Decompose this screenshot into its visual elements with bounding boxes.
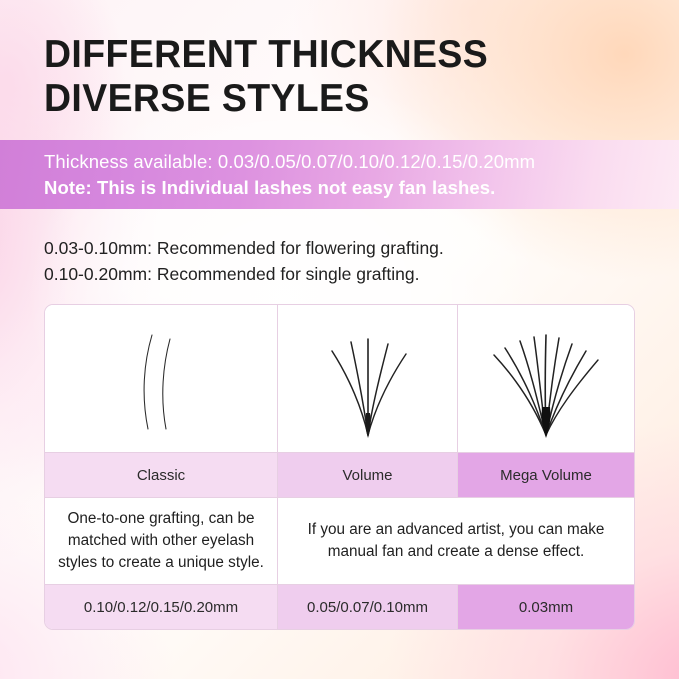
table-row-illustrations <box>45 305 634 452</box>
description-cell-classic: One-to-one grafting, can be matched with… <box>45 498 277 584</box>
sizes-cell-classic: 0.10/0.12/0.15/0.20mm <box>45 585 277 629</box>
header-cell-volume: Volume <box>277 453 457 497</box>
thickness-banner: Thickness available: 0.03/0.05/0.07/0.10… <box>0 140 679 209</box>
mega-volume-fan-icon <box>480 317 612 442</box>
promo-graphic: DIFFERENT THICKNESS DIVERSE STYLES Thick… <box>0 0 679 679</box>
page-title: DIFFERENT THICKNESS DIVERSE STYLES <box>44 33 644 121</box>
description-text-classic: One-to-one grafting, can be matched with… <box>57 508 265 574</box>
lash-style-comparison-table: Classic Volume Mega Volume One-to-one gr… <box>44 304 635 630</box>
volume-fan-icon <box>312 317 424 442</box>
cell-mega-volume-illustration <box>457 305 634 452</box>
thickness-available-text: Thickness available: 0.03/0.05/0.07/0.10… <box>44 150 535 174</box>
table-row-thickness-values: 0.10/0.12/0.15/0.20mm 0.05/0.07/0.10mm 0… <box>45 584 634 629</box>
cell-classic-illustration <box>45 305 277 452</box>
recommendation-notes: 0.03-0.10mm: Recommended for flowering g… <box>44 235 644 287</box>
table-row-descriptions: One-to-one grafting, can be matched with… <box>45 497 634 584</box>
recommendation-line-1: 0.03-0.10mm: Recommended for flowering g… <box>44 235 644 261</box>
sizes-cell-volume: 0.05/0.07/0.10mm <box>277 585 457 629</box>
header-cell-classic: Classic <box>45 453 277 497</box>
recommendation-line-2: 0.10-0.20mm: Recommended for single graf… <box>44 261 644 287</box>
header-cell-mega-volume: Mega Volume <box>457 453 634 497</box>
description-cell-volume-mega: If you are an advanced artist, you can m… <box>277 498 634 584</box>
description-text-volume-mega: If you are an advanced artist, you can m… <box>290 519 622 563</box>
single-lash-pair-icon <box>126 317 196 442</box>
cell-volume-illustration <box>277 305 457 452</box>
sizes-cell-mega-volume: 0.03mm <box>457 585 634 629</box>
page-title-line-1: DIFFERENT THICKNESS <box>44 33 620 77</box>
banner-note-text: Note: This is Individual lashes not easy… <box>44 176 495 200</box>
table-row-style-names: Classic Volume Mega Volume <box>45 452 634 497</box>
page-title-line-2: DIVERSE STYLES <box>44 77 620 121</box>
